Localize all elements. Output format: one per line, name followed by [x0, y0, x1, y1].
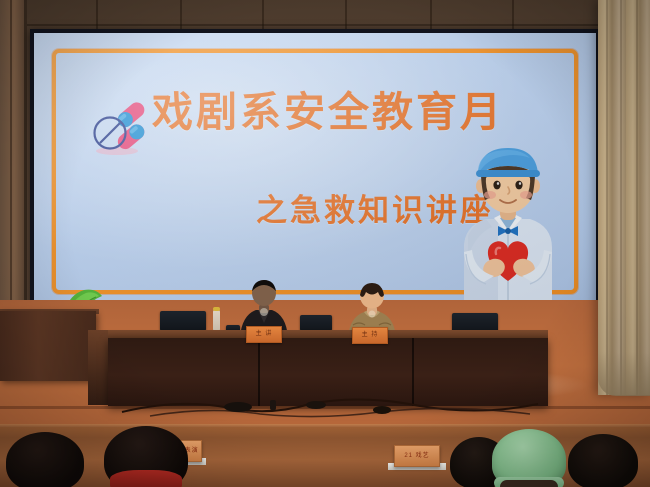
wall-band	[0, 24, 650, 26]
curtain-fold	[620, 0, 622, 395]
water-bottle	[213, 310, 220, 332]
panel-placard-text: 主 持	[353, 328, 387, 343]
projection-screen: 戏剧系安全教育月 之急救知识讲座	[34, 33, 596, 308]
curtain-hem	[598, 352, 650, 396]
floor-cables	[120, 392, 540, 418]
lecture-hall-photo: 戏剧系安全教育月 之急救知识讲座	[0, 0, 650, 487]
wall-trim-edge	[24, 0, 27, 330]
panel-placard: 主 讲	[246, 326, 282, 343]
pill-capsule-icon	[90, 99, 150, 157]
doctor-holding-heart-illustration	[440, 130, 576, 308]
table-monitor-left	[160, 311, 206, 331]
audience-name-card: 21 戏艺	[394, 445, 440, 467]
slide-title: 戏剧系安全教育月	[152, 91, 504, 134]
panel-placard-text: 主 讲	[247, 327, 281, 342]
wooden-podium	[0, 311, 96, 381]
bottle-cap	[213, 307, 220, 311]
audience-head-5	[568, 434, 638, 487]
panel-placard: 主 持	[352, 327, 388, 344]
audience-head-4	[500, 480, 558, 487]
curtain-fold	[636, 0, 638, 395]
audience-name-card-text: 21 戏艺	[395, 446, 439, 466]
wall-seam	[10, 0, 12, 330]
wall-trim-left	[0, 0, 26, 330]
table-monitor-mid	[300, 315, 332, 331]
red-scarf	[110, 470, 182, 487]
audience-head-1	[6, 432, 84, 487]
curtain-fold	[606, 0, 608, 395]
